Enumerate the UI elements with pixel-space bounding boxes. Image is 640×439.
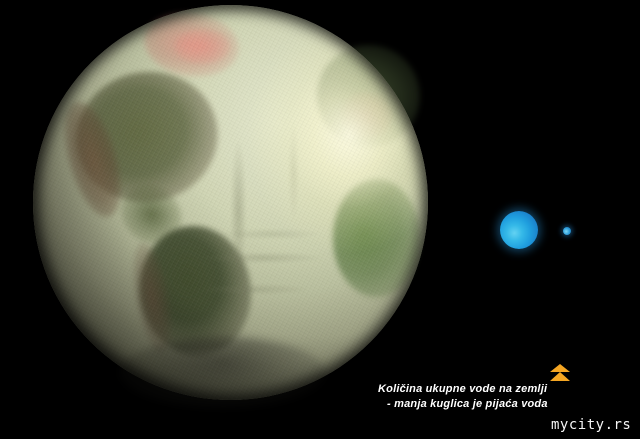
- watermark: mycity.rs: [551, 417, 631, 433]
- total-water-sphere: [500, 211, 538, 249]
- up-arrow-icon: [549, 364, 571, 384]
- image-canvas: Količina ukupne vode na zemlji - manja k…: [0, 0, 640, 439]
- caption-text: Količina ukupne vode na zemlji - manja k…: [378, 382, 583, 412]
- caption-line-2: - manja kuglica je pijaća voda: [378, 397, 583, 412]
- caption-line-1: Količina ukupne vode na zemlji: [378, 382, 583, 397]
- globe-limb-edge: [33, 5, 428, 400]
- earth-globe: [33, 5, 428, 400]
- drinkable-water-sphere: [563, 227, 571, 235]
